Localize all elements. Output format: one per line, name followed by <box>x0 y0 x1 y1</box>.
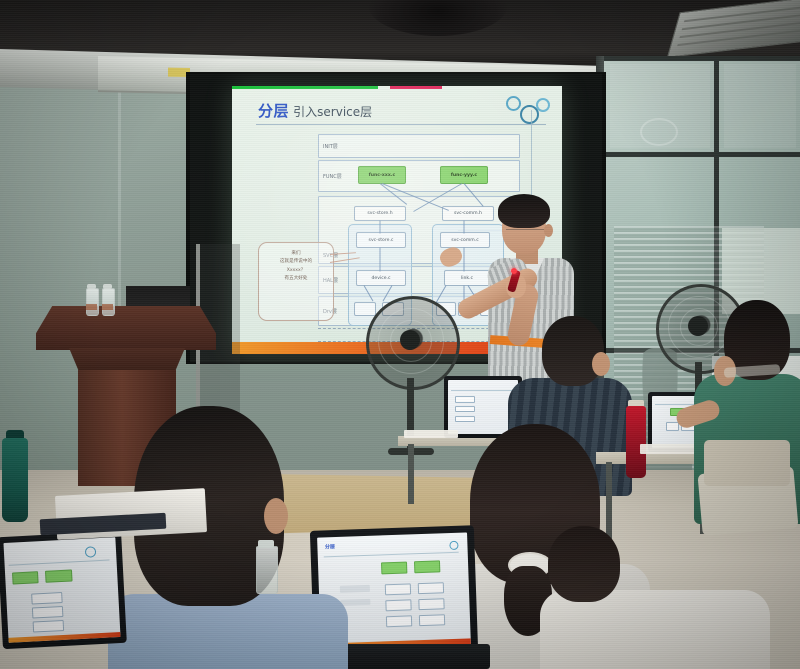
slide-title-rest: 引入service层 <box>293 105 372 119</box>
box-func-yyy: func-yyy.c <box>440 166 488 184</box>
box-device-c: device.c <box>356 270 406 286</box>
callout-line-1: 来们 <box>259 250 333 258</box>
glass-decal-icon <box>640 118 678 146</box>
water-bottle-2 <box>102 288 115 316</box>
laptop-front-left[interactable] <box>0 531 127 649</box>
laptop-front-left-lid <box>0 531 127 649</box>
audience-front-right-white <box>540 556 770 669</box>
box-func-xxx: func-xxx.c <box>358 166 406 184</box>
water-bottle-1-cap <box>87 284 96 289</box>
water-bottle-1-label <box>86 304 97 310</box>
box-func-yyy-label: func-yyy.c <box>451 173 477 178</box>
callout-bubble: 来们 这就是传说中的 Xxxxx？ 有五大好处 <box>258 242 334 321</box>
box-func-xxx-label: func-xxx.c <box>369 173 396 178</box>
water-bottle-front <box>256 546 278 594</box>
presenter-ear <box>544 224 553 237</box>
lectern-top <box>36 306 216 350</box>
layer-init-label: INIT层 <box>323 143 338 150</box>
laptop-front-left-screen <box>3 537 120 643</box>
progress-bar-red <box>390 86 442 89</box>
table-mid-leg-l <box>408 444 414 504</box>
laptop-left-ring-icon <box>85 546 97 558</box>
box-svc-store-h-label: svc-store.h <box>367 211 392 216</box>
laptop-left-footer-bar <box>8 632 120 643</box>
laser-pointer-led-icon <box>511 268 517 274</box>
box-svc-store-h: svc-store.h <box>354 206 406 221</box>
water-bottle-front-cap <box>258 540 274 548</box>
title-underline <box>256 124 546 125</box>
audience-right-shorts <box>704 440 790 486</box>
layer-func-label: FUNC层 <box>323 173 342 180</box>
lecture-room-photo: 分层 引入service层 INIT层 FUNC层 SVC层 HAL层 Drv <box>0 0 800 669</box>
callout-line-4: 有五大好处 <box>259 275 333 283</box>
audience-front-left-blue <box>112 406 334 669</box>
lectern-neck <box>64 348 190 372</box>
water-bottle-2-label <box>102 304 113 310</box>
green-flask <box>2 438 28 522</box>
audience-mid-ear <box>592 352 610 376</box>
box-svc-store-c: svc-store.c <box>356 232 406 248</box>
audience-mid-head <box>542 316 604 386</box>
front-right-head <box>548 526 620 602</box>
front-left-ear <box>264 498 288 534</box>
presenter-glasses-icon <box>506 221 544 230</box>
fan-left-hub <box>400 330 420 350</box>
callout-line-3: Xxxxx？ <box>259 267 333 275</box>
laptop-slide-ring-icon <box>449 541 458 550</box>
box-svc-store-c-label: svc-store.c <box>369 238 394 243</box>
layer-init: INIT层 <box>318 134 520 158</box>
callout-line-2: 这就是传说中的 <box>259 258 333 266</box>
water-bottle-2-cap <box>103 284 112 289</box>
progress-bar-green <box>232 86 378 89</box>
water-bottle-1 <box>86 288 99 316</box>
slide-title-bold: 分层 <box>258 102 289 120</box>
slide-title: 分层 引入service层 <box>258 100 372 121</box>
decorative-rings-icon <box>506 94 552 126</box>
box-device-c-label: device.c <box>371 276 390 281</box>
